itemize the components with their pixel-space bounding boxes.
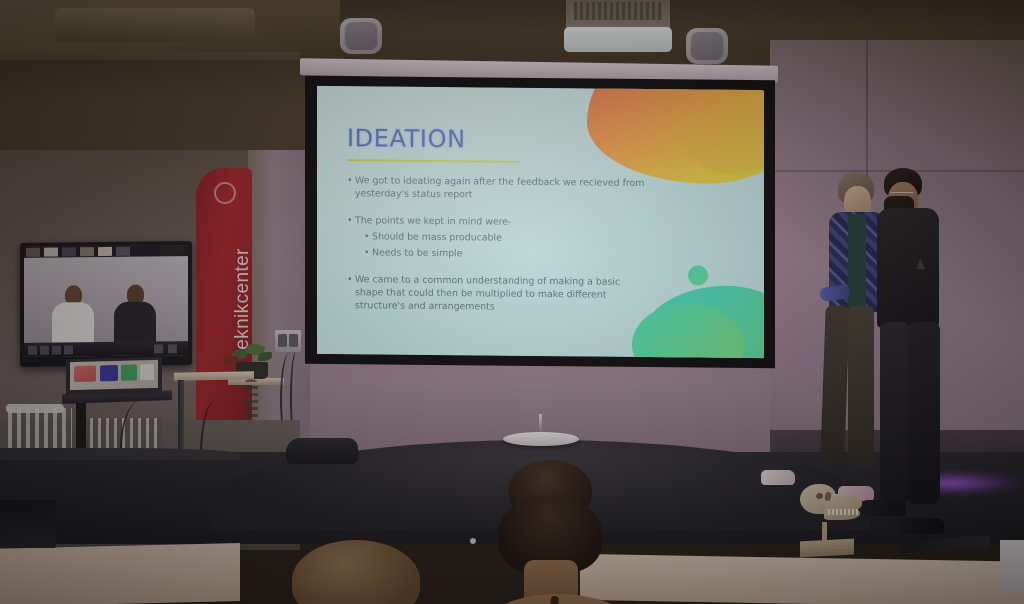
stage-front-edge bbox=[0, 448, 240, 460]
t-rex-skull-base bbox=[800, 539, 854, 558]
table-rod bbox=[539, 414, 542, 434]
slide-bullet-list: • We got to ideating again after the fee… bbox=[347, 175, 738, 317]
bullet-line: shape that could then be multiplied to m… bbox=[355, 287, 606, 300]
presenter-left-shoe bbox=[761, 470, 795, 485]
presenter-right-jacket bbox=[877, 208, 939, 328]
bullet-glyph: • bbox=[347, 274, 355, 313]
laptop-screen bbox=[70, 360, 158, 390]
participant-thumbnail bbox=[28, 346, 37, 355]
foreground-monitor bbox=[0, 500, 56, 548]
slide-subbullet-item: • Should be mass producable bbox=[364, 231, 738, 248]
stool-seat-top bbox=[6, 404, 64, 413]
ceiling-duct-secondary bbox=[55, 8, 255, 42]
screen-card bbox=[121, 364, 137, 380]
slide-bullet-item: • We got to ideating again after the fee… bbox=[347, 175, 738, 205]
participant-thumbnail bbox=[64, 345, 73, 354]
participant-thumbnail bbox=[80, 247, 94, 256]
presentation-room-photo: IDEATION • We got to ideating again afte… bbox=[0, 0, 1024, 604]
projector-circuitry bbox=[574, 2, 662, 20]
socket-outlet bbox=[289, 334, 298, 347]
participant-thumbnail bbox=[52, 345, 61, 354]
presenter-laptop bbox=[66, 357, 162, 396]
audience-head-center bbox=[490, 460, 608, 604]
monitor-lower-strip bbox=[24, 341, 188, 357]
slide-title: IDEATION bbox=[347, 126, 738, 154]
bullet-glyph: • bbox=[347, 175, 355, 201]
bullet-glyph: • bbox=[364, 247, 372, 260]
t-rex-skull-model bbox=[800, 482, 862, 526]
socket-outlet bbox=[278, 334, 287, 347]
video-call-monitor bbox=[20, 241, 192, 367]
skull-teeth bbox=[828, 509, 860, 515]
bullet-text: We came to a common understanding of mak… bbox=[355, 274, 620, 315]
audience-table-right bbox=[580, 554, 1024, 604]
audience-table-left bbox=[0, 543, 240, 604]
participant-thumbnail bbox=[168, 344, 177, 353]
slide-bullet-item: • We came to a common understanding of m… bbox=[347, 274, 738, 317]
presenter-right-shoe bbox=[862, 500, 906, 516]
presentation-slide: IDEATION • We got to ideating again afte… bbox=[317, 86, 764, 358]
presenter-left-leg bbox=[848, 306, 874, 466]
projector-housing bbox=[564, 27, 672, 52]
bullet-line: structure's and arrangements bbox=[355, 300, 495, 312]
screen-card bbox=[74, 365, 96, 382]
bullet-text: The points we kept in mind were- bbox=[355, 215, 511, 229]
presenter-right-leg bbox=[880, 322, 910, 502]
participant-thumbnail bbox=[160, 246, 184, 255]
bullet-text: We got to ideating again after the feedb… bbox=[355, 175, 644, 204]
presenter-right-leg bbox=[908, 322, 940, 504]
stage-equipment-bag bbox=[286, 438, 358, 464]
video-participant-left bbox=[52, 285, 94, 350]
bullet-line: We came to a common understanding of mak… bbox=[355, 274, 620, 288]
screen-card bbox=[100, 365, 118, 381]
participant-thumbnail bbox=[116, 247, 130, 256]
ceiling-speaker-left bbox=[340, 18, 382, 54]
presenter-left-inner-shirt bbox=[848, 214, 866, 310]
glasses-icon bbox=[890, 192, 914, 198]
slide-title-underline bbox=[347, 159, 520, 163]
slide-content: IDEATION • We got to ideating again afte… bbox=[347, 126, 738, 320]
slide-bullet-item: • The points we kept in mind were- bbox=[347, 215, 738, 232]
participant-thumbnail bbox=[44, 248, 58, 257]
audience-laptop bbox=[1000, 540, 1024, 592]
monitor-screen bbox=[24, 245, 188, 357]
bullet-glyph: • bbox=[364, 231, 372, 244]
participant-thumbnail bbox=[98, 247, 112, 256]
presenter-right-shoe bbox=[898, 518, 944, 534]
bullet-line: yesterday's status report bbox=[355, 188, 472, 200]
participant-thumbnail bbox=[26, 248, 40, 257]
bullet-text: Needs to be simple bbox=[372, 247, 462, 261]
participant-thumbnail bbox=[40, 346, 49, 355]
ceiling-speaker-right bbox=[686, 28, 728, 64]
side-table bbox=[174, 371, 254, 380]
participant-thumbnail bbox=[154, 344, 163, 353]
white-round-table bbox=[503, 432, 579, 446]
earring bbox=[470, 538, 476, 544]
audience-head-left bbox=[292, 540, 420, 604]
bullet-line: We got to ideating again after the feedb… bbox=[355, 175, 644, 189]
bullet-text: Should be mass producable bbox=[372, 231, 502, 245]
wall-socket-panel bbox=[275, 330, 301, 352]
bullet-glyph: • bbox=[347, 215, 355, 228]
slide-subbullet-item: • Needs to be simple bbox=[364, 247, 738, 264]
screen-card bbox=[140, 364, 154, 380]
video-participant-right bbox=[114, 284, 156, 349]
participant-thumbnail bbox=[62, 247, 76, 256]
